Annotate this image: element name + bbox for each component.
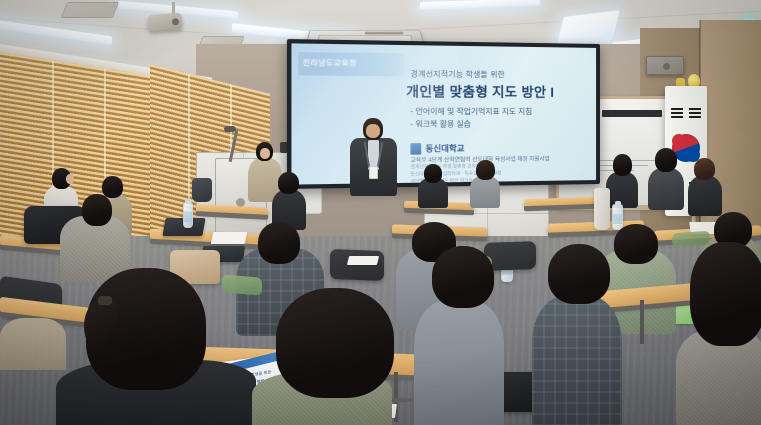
attendee-head [432, 246, 494, 308]
chair-green[interactable] [222, 274, 262, 295]
water-bottle [183, 202, 193, 228]
attendee-head [548, 244, 610, 304]
attendee-head [82, 194, 112, 226]
ceiling-vent [61, 2, 119, 18]
hair-ponytail [84, 300, 118, 352]
chair-green[interactable] [672, 231, 710, 248]
attendee-body [648, 168, 684, 210]
staff-face [260, 148, 270, 159]
whiteboard-top-strip [602, 110, 662, 117]
projected-slide: 전라남도교육청 경계선지적기능 학생들 위한 개인별 맞춤형 지도 방안 I -… [291, 43, 596, 184]
foreground-attendee-head [276, 288, 394, 398]
attendee-head [614, 224, 658, 264]
attendee-body [688, 176, 722, 216]
trigram-gam-icon [689, 108, 701, 120]
attendee-body [0, 318, 66, 370]
attendee-head [424, 164, 442, 183]
paper-handout [211, 232, 248, 244]
attendee-body [532, 296, 622, 425]
name-badge [369, 166, 378, 179]
lecture-hall-photo: 전라남도교육청 경계선지적기능 학생들 위한 개인별 맞춤형 지도 방안 I -… [0, 0, 761, 425]
chair[interactable] [330, 249, 384, 281]
kettle [192, 178, 212, 202]
attendee-body [414, 300, 504, 425]
paper-handout [347, 256, 379, 265]
microphone-icon [224, 126, 236, 132]
attendee-head [102, 176, 123, 198]
attendee-head [613, 154, 632, 176]
attendee-head [278, 172, 299, 194]
water-bottle [612, 204, 623, 230]
attendee-body [606, 172, 638, 208]
wall-speaker [646, 56, 684, 75]
trigram-geon-icon [671, 108, 683, 120]
attendee-head [655, 148, 677, 172]
attendee-head [694, 158, 715, 180]
attendee-body [470, 176, 500, 208]
ceiling-projector [147, 13, 182, 31]
attendee-head [258, 222, 300, 264]
desk-leg [640, 300, 644, 344]
tumbler [594, 188, 610, 230]
desk [524, 197, 598, 208]
attendee-face [66, 174, 74, 184]
presenter-face [366, 124, 380, 138]
projection-screen: 전라남도교육청 경계선지적기능 학생들 위한 개인별 맞춤형 지도 방안 I -… [287, 39, 600, 189]
hair-clip-icon [98, 296, 112, 305]
attendee-head [476, 160, 495, 180]
foreground-attendee-head [690, 242, 761, 346]
